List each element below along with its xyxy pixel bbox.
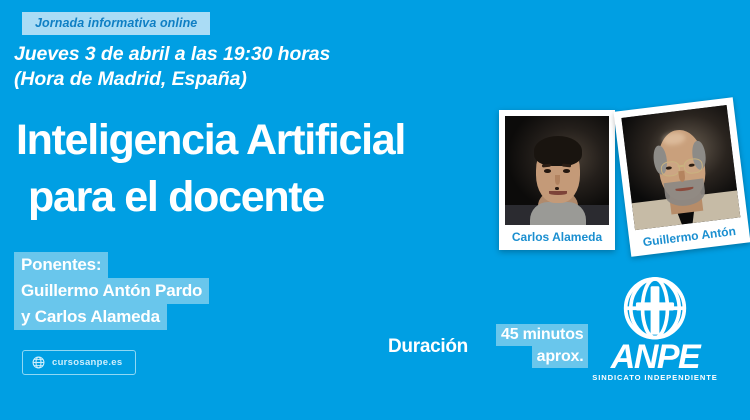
duration-label: Duración xyxy=(388,336,468,358)
speaker-name-1: Guillermo Antón Pardo xyxy=(14,278,209,304)
globe-icon xyxy=(32,356,45,369)
globe-emblem-icon xyxy=(580,276,730,342)
duration-value: 45 minutos aprox. xyxy=(496,324,588,368)
event-type-badge: Jornada informativa online xyxy=(22,12,210,35)
website-link-button[interactable]: cursosanpe.es xyxy=(22,350,136,375)
event-datetime: Jueves 3 de abril a las 19:30 horas (Hor… xyxy=(14,42,484,92)
photo-caption-carlos-alameda: Carlos Alameda xyxy=(505,225,609,250)
title-line-1: Inteligencia Artificial xyxy=(16,112,516,169)
portrait-carlos-alameda xyxy=(505,116,609,225)
anpe-wordmark: ANPE xyxy=(580,342,730,372)
duration-value-line-1: 45 minutos xyxy=(496,324,588,346)
speakers-block: Ponentes: Guillermo Antón Pardo y Carlos… xyxy=(14,252,209,330)
webinar-poster: Jornada informativa online Jueves 3 de a… xyxy=(0,0,750,420)
title-line-2: para el docente xyxy=(28,169,516,226)
website-url-label: cursosanpe.es xyxy=(52,357,122,368)
event-timezone-line: (Hora de Madrid, España) xyxy=(14,67,484,92)
photo-card-guillermo-anton: Guillermo Antón xyxy=(614,97,750,257)
event-date-line: Jueves 3 de abril a las 19:30 horas xyxy=(14,42,484,67)
speakers-heading: Ponentes: xyxy=(14,252,108,278)
page-title: Inteligencia Artificial para el docente xyxy=(16,112,516,226)
speaker-name-2: y Carlos Alameda xyxy=(14,304,167,330)
anpe-logo: ANPE SINDICATO INDEPENDIENTE xyxy=(580,276,730,384)
anpe-tagline: SINDICATO INDEPENDIENTE xyxy=(580,372,730,383)
portrait-guillermo-anton xyxy=(621,105,740,230)
photo-card-carlos-alameda: Carlos Alameda xyxy=(499,110,615,250)
